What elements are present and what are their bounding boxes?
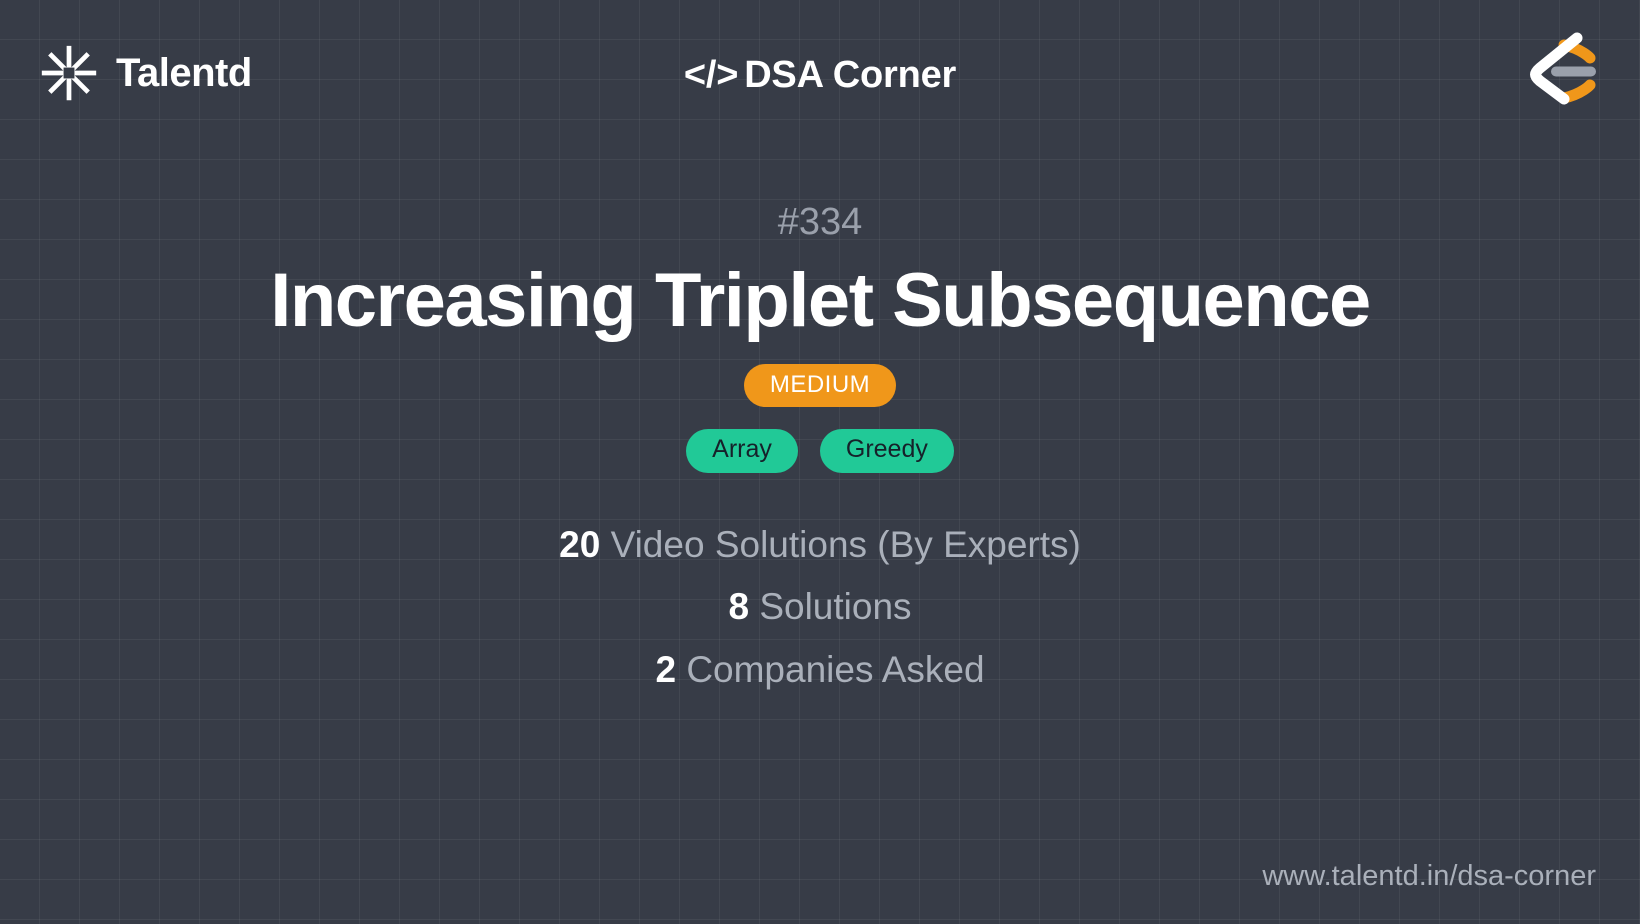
page-title: </>DSA Corner: [0, 54, 1640, 97]
stat-companies-asked-value: 2: [655, 649, 676, 690]
leetcode-logo-icon: [1520, 28, 1598, 114]
stat-video-solutions: 20 Video Solutions (By Experts): [559, 523, 1081, 567]
stat-video-solutions-value: 20: [559, 524, 600, 565]
stat-solutions-label: Solutions: [759, 586, 911, 627]
stat-solutions-value: 8: [728, 586, 749, 627]
stat-solutions: 8 Solutions: [728, 585, 911, 629]
stats-list: 20 Video Solutions (By Experts) 8 Soluti…: [559, 523, 1081, 692]
page-header: Talentd </>DSA Corner: [0, 0, 1640, 155]
problem-title: Increasing Triplet Subsequence: [270, 260, 1370, 342]
tag-pill-greedy[interactable]: Greedy: [820, 429, 954, 473]
tag-pill-array[interactable]: Array: [686, 429, 798, 473]
page-title-text: DSA Corner: [744, 54, 956, 96]
tag-list: Array Greedy: [686, 429, 954, 473]
stat-companies-asked: 2 Companies Asked: [655, 648, 984, 692]
code-brackets-icon: </>: [684, 54, 738, 96]
stat-companies-asked-label: Companies Asked: [686, 649, 984, 690]
footer-url[interactable]: www.talentd.in/dsa-corner: [1262, 859, 1596, 894]
problem-number: #334: [778, 200, 863, 246]
difficulty-badge: MEDIUM: [744, 364, 896, 408]
stat-video-solutions-label: Video Solutions (By Experts): [611, 524, 1081, 565]
problem-card: #334 Increasing Triplet Subsequence MEDI…: [0, 200, 1640, 692]
